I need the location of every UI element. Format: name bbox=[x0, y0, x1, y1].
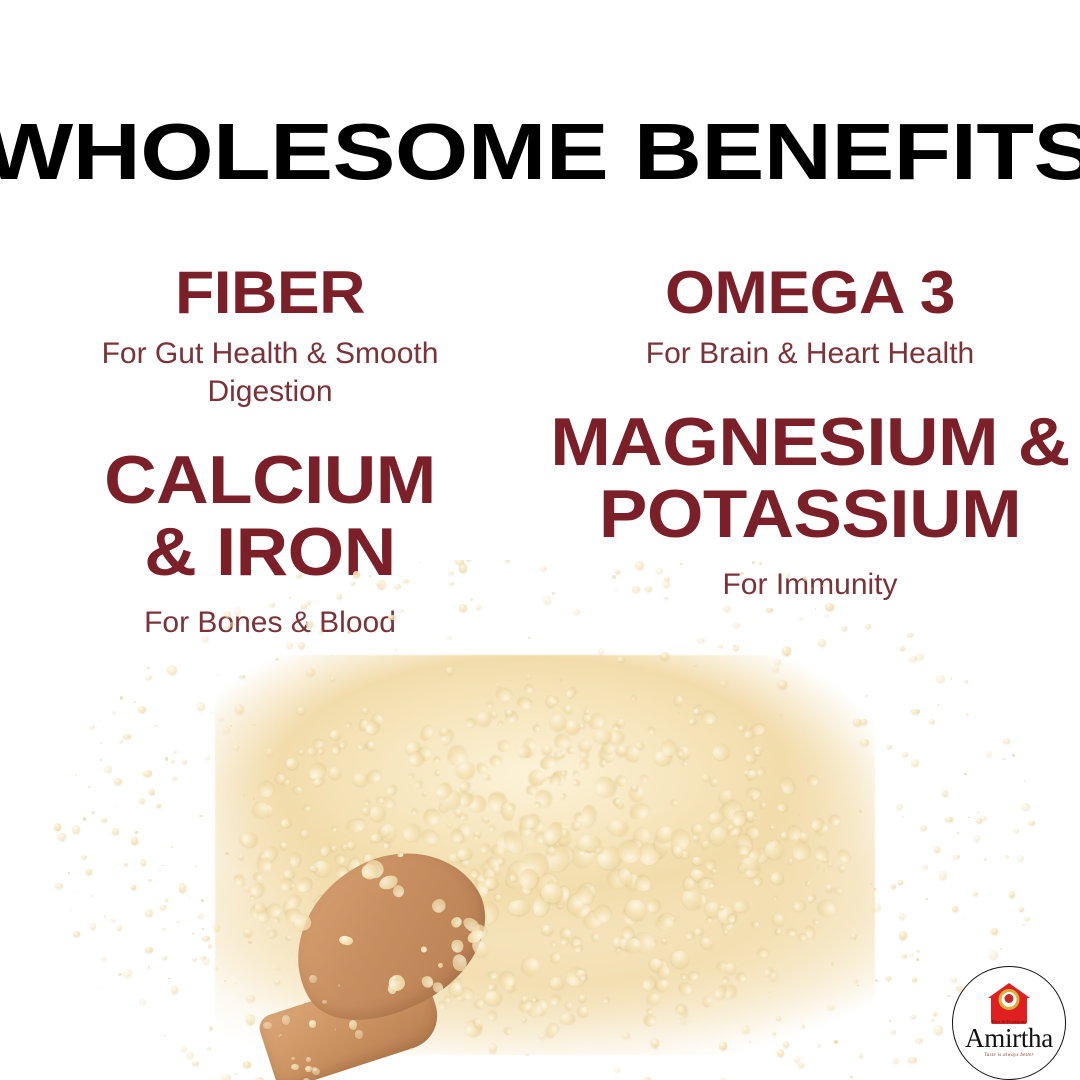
benefit-subtitle-magnesium-potassium: For Immunity bbox=[540, 566, 1080, 604]
benefit-subtitle-calcium-iron: For Bones & Blood bbox=[0, 604, 540, 642]
logo-brand-name: Amirtha bbox=[953, 1023, 1065, 1053]
benefit-heading-omega-3: OMEGA 3 bbox=[521, 262, 1080, 323]
page-title: WHOLESOME BENEFITS bbox=[0, 110, 1080, 194]
benefit-subtitle-omega-3: For Brain & Heart Health bbox=[540, 335, 1080, 373]
scoop-bowl bbox=[263, 819, 512, 1052]
powder-mound bbox=[215, 655, 875, 1055]
scoop-handle bbox=[256, 965, 446, 1080]
benefits-column-left: FIBER For Gut Health & Smooth Digestion … bbox=[0, 262, 540, 642]
benefit-heading-calcium-iron: CALCIUM & IRON bbox=[0, 445, 559, 588]
benefit-heading-fiber: FIBER bbox=[0, 262, 559, 323]
poster-canvas: WHOLESOME BENEFITS FIBER For Gut Health … bbox=[0, 0, 1080, 1080]
logo-tagline: Taste is always better bbox=[953, 1053, 1065, 1058]
benefit-item-omega-3: OMEGA 3 For Brain & Heart Health bbox=[540, 262, 1080, 373]
benefit-item-magnesium-potassium: MAGNESIUM & POTASSIUM For Immunity bbox=[540, 407, 1080, 604]
benefit-item-calcium-iron: CALCIUM & IRON For Bones & Blood bbox=[0, 445, 540, 642]
ring-center-dot-icon bbox=[1005, 994, 1014, 1003]
benefits-grid: FIBER For Gut Health & Smooth Digestion … bbox=[0, 262, 1080, 682]
brand-logo[interactable]: Rice & Provisions Amirtha Taste is alway… bbox=[952, 966, 1066, 1080]
wooden-scoop-icon bbox=[214, 797, 590, 1080]
benefit-heading-magnesium-potassium: MAGNESIUM & POTASSIUM bbox=[521, 407, 1080, 550]
benefit-subtitle-fiber: For Gut Health & Smooth Digestion bbox=[0, 335, 540, 411]
benefit-item-fiber: FIBER For Gut Health & Smooth Digestion bbox=[0, 262, 540, 411]
benefits-column-right: OMEGA 3 For Brain & Heart Health MAGNESI… bbox=[540, 262, 1080, 604]
